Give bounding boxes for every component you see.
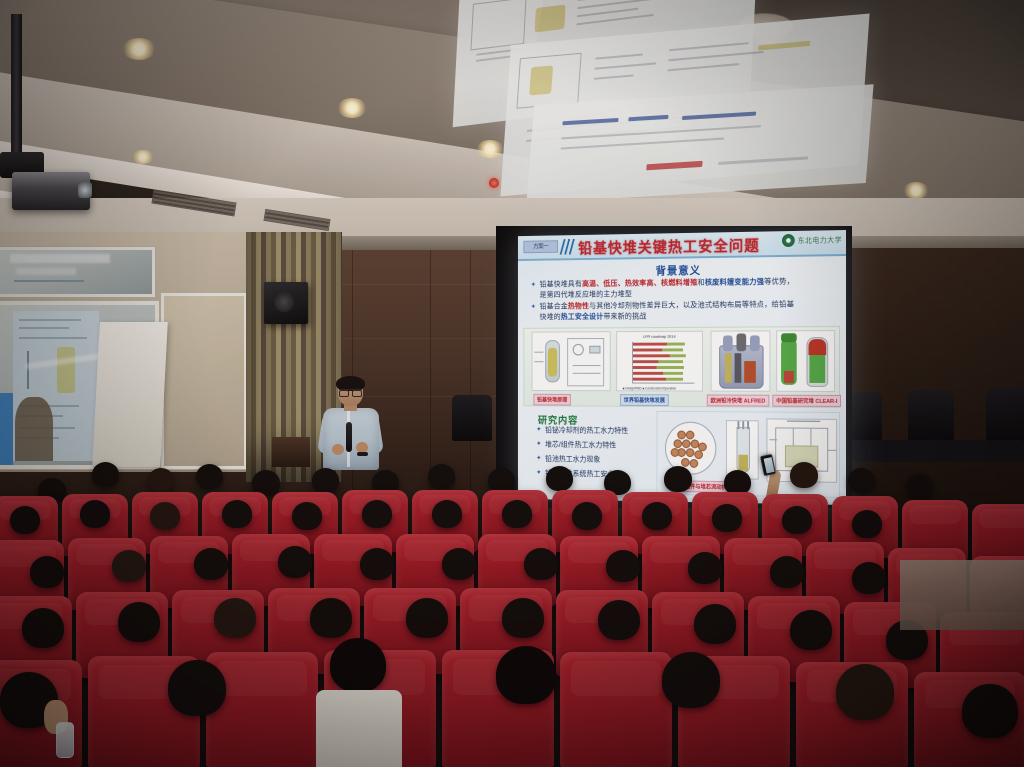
slide-section-tag: 方案一 <box>523 240 558 253</box>
audience-head <box>790 462 818 488</box>
window-frame-upper <box>0 246 156 298</box>
audience-head <box>432 500 462 528</box>
figure-caption: 欧洲铅冷快堆 ALFRED <box>707 394 769 406</box>
covered-furniture-sheet <box>92 322 168 467</box>
research-item: ✦ 铅铋冷却剂的热工水力特性 <box>536 425 656 436</box>
figure-caption: 世界铅基快堆发展 <box>620 394 669 406</box>
audience-head <box>150 502 180 530</box>
chart-plot-area <box>632 342 698 383</box>
chart-bar <box>632 343 692 346</box>
audience-head <box>312 468 339 493</box>
audience-head <box>664 466 692 492</box>
chart-bar <box>632 354 692 357</box>
handheld-microphone <box>346 422 352 452</box>
chart-legend: ■ Design/R&D ■ Construction/Operation <box>623 386 676 390</box>
audience-head <box>852 510 882 538</box>
bullet-marker-icon: ✦ <box>536 469 541 479</box>
phone-screen <box>763 457 774 473</box>
audience-head <box>712 504 742 532</box>
audience-head <box>360 548 394 580</box>
lecture-hall-photo: 方案一 铅基快堆关键热工安全问题 东北电力大学 背景意义 ✦ 铅基快堆具有高温、… <box>0 0 1024 767</box>
audience-head <box>790 610 832 650</box>
chart-bar <box>632 378 692 381</box>
audience-head <box>428 464 455 489</box>
slide-section-tag-label: 方案一 <box>524 241 557 253</box>
auditorium-seat <box>560 652 672 767</box>
chart-bar <box>632 366 692 369</box>
audience-head <box>688 552 722 584</box>
audience-head <box>196 464 223 489</box>
university-logo: 东北电力大学 <box>782 233 842 247</box>
bullet-marker-icon: ✦ <box>536 454 541 464</box>
slide-figure-strip: 铅基快堆原理 LFR roadmap 2014 <box>523 326 840 408</box>
audience-head <box>30 556 64 588</box>
chart-x-axis <box>632 383 694 384</box>
audience-head <box>330 638 386 692</box>
projector-mount-pole <box>11 14 22 166</box>
figure-alfred-reactor <box>711 330 771 391</box>
audience-head <box>92 462 119 487</box>
audience-head <box>770 556 804 588</box>
audience-head <box>502 500 532 528</box>
stage-chair <box>986 388 1024 442</box>
podium <box>272 437 310 467</box>
slide-bullet: ✦ 铅基快堆具有高温、低压、热效率高、核燃料增殖和核废料嬗变能力强等优势，是第四… <box>531 276 836 300</box>
slide-bullet: ✦ 铅基合金热物性与其他冷却剂物性差异巨大，以及池式结构布局等特点，给铅基快堆的… <box>531 299 836 322</box>
stage-chair <box>852 392 882 440</box>
audience-head <box>848 468 875 493</box>
projector-lens <box>78 182 92 198</box>
chart-y-axis <box>632 342 633 383</box>
figure-reactor-principle <box>532 331 611 391</box>
chart-title: LFR roadmap 2014 <box>617 334 702 339</box>
ceiling-downlight <box>132 150 154 164</box>
audience-head <box>80 500 110 528</box>
ceiling-emergency-light <box>489 178 499 188</box>
audience-head <box>662 652 720 708</box>
auditorium-seat <box>206 652 318 767</box>
audience-head <box>852 562 886 594</box>
wall-speaker <box>264 282 308 324</box>
audience-head <box>118 602 160 642</box>
audience-head <box>598 600 640 640</box>
audience-head <box>442 548 476 580</box>
audience-head <box>836 664 894 720</box>
figure-clear-i-reactor <box>776 330 835 392</box>
window-frame-right <box>160 292 248 470</box>
audience-head <box>10 506 40 534</box>
audience-head <box>962 684 1018 738</box>
ceiling-downlight <box>476 140 504 158</box>
bullet-marker-icon: ✦ <box>531 302 536 322</box>
audience-head <box>572 502 602 530</box>
figure-caption: 铅基快堆原理 <box>533 394 571 406</box>
audience-head <box>502 598 544 638</box>
audience-head <box>642 502 672 530</box>
research-item: ✦ 堆芯/组件热工水力特性 <box>536 440 656 451</box>
wristwatch <box>357 452 368 456</box>
research-item: ✦ 铅池热工水力现象 <box>536 454 656 465</box>
audience-head <box>694 604 736 644</box>
audience-head <box>214 598 256 638</box>
audience-head <box>168 660 226 716</box>
water-bottle <box>56 722 74 758</box>
bullet-marker-icon: ✦ <box>536 425 541 435</box>
audience-head <box>906 474 933 499</box>
figure-caption: 中国铅基研究堆 CLEAR-I <box>772 395 841 407</box>
audience-head <box>406 598 448 638</box>
slide-bullet-list: ✦ 铅基快堆具有高温、低压、热效率高、核燃料增殖和核废料嬗变能力强等优势，是第四… <box>531 276 836 324</box>
university-name: 东北电力大学 <box>798 235 842 246</box>
eyeglasses-icon <box>339 389 362 395</box>
audience-head <box>524 548 558 580</box>
audience-head <box>112 550 146 582</box>
figure-lfr-roadmap-chart: LFR roadmap 2014 ■ Design/R&D ■ Construc… <box>616 331 703 392</box>
speaker-cone <box>274 292 294 312</box>
audience-head <box>148 468 174 492</box>
audience-head <box>782 506 812 534</box>
audience-head <box>496 646 556 704</box>
bullet-marker-icon: ✦ <box>536 440 541 450</box>
audience-head <box>222 500 252 528</box>
stage-table <box>846 440 1024 462</box>
audience-head <box>278 546 312 578</box>
chart-bar <box>632 360 692 363</box>
audience-shirt <box>316 690 402 767</box>
stage-chair <box>452 395 492 441</box>
audience-head <box>194 548 228 580</box>
ceiling-downlight <box>903 182 929 199</box>
university-crest-icon <box>782 234 795 247</box>
bullet-marker-icon: ✦ <box>531 280 536 300</box>
presenter-left-hand <box>332 444 344 455</box>
slide-title: 铅基快堆关键热工安全问题 <box>578 235 759 259</box>
audience-head <box>310 598 352 638</box>
audience-head <box>546 466 573 491</box>
audience-head <box>292 502 322 530</box>
ceiling-downlight <box>337 98 367 118</box>
chart-bar <box>632 348 692 351</box>
presenter <box>318 378 384 470</box>
chart-bar <box>632 372 692 375</box>
ceiling-downlight <box>122 38 156 60</box>
audience-head <box>22 608 64 648</box>
stage-chair <box>908 390 954 442</box>
audience-head <box>362 500 392 528</box>
stage-floor <box>900 560 1024 630</box>
audience-head <box>606 550 640 582</box>
